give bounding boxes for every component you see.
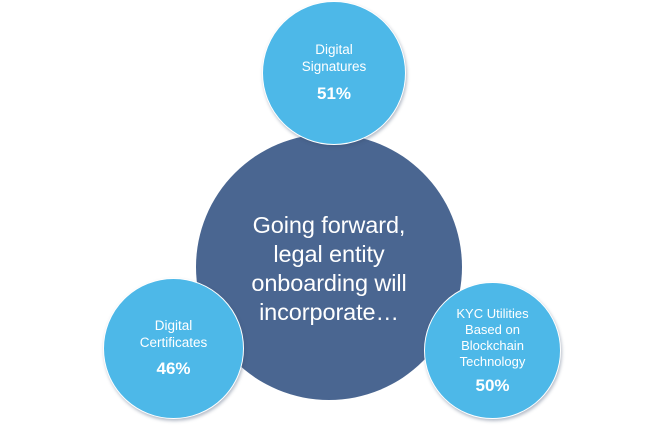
hub-label: Going forward, legal entity onboarding w… [204,211,454,327]
node-label-kyc-utilities: KYC Utilities Based on Blockchain Techno… [450,306,534,370]
infographic-canvas: Going forward, legal entity onboarding w… [0,0,650,425]
node-circle-digital-signatures[interactable]: Digital Signatures 51% [262,1,406,145]
node-circle-digital-certificates[interactable]: Digital Certificates 46% [103,278,244,419]
node-label-digital-certificates: Digital Certificates [134,318,214,351]
node-value-digital-certificates: 46% [156,359,190,379]
node-value-kyc-utilities: 50% [475,376,509,396]
node-circle-kyc-utilities[interactable]: KYC Utilities Based on Blockchain Techno… [424,282,561,419]
node-label-digital-signatures: Digital Signatures [296,42,373,75]
node-value-digital-signatures: 51% [317,84,351,104]
